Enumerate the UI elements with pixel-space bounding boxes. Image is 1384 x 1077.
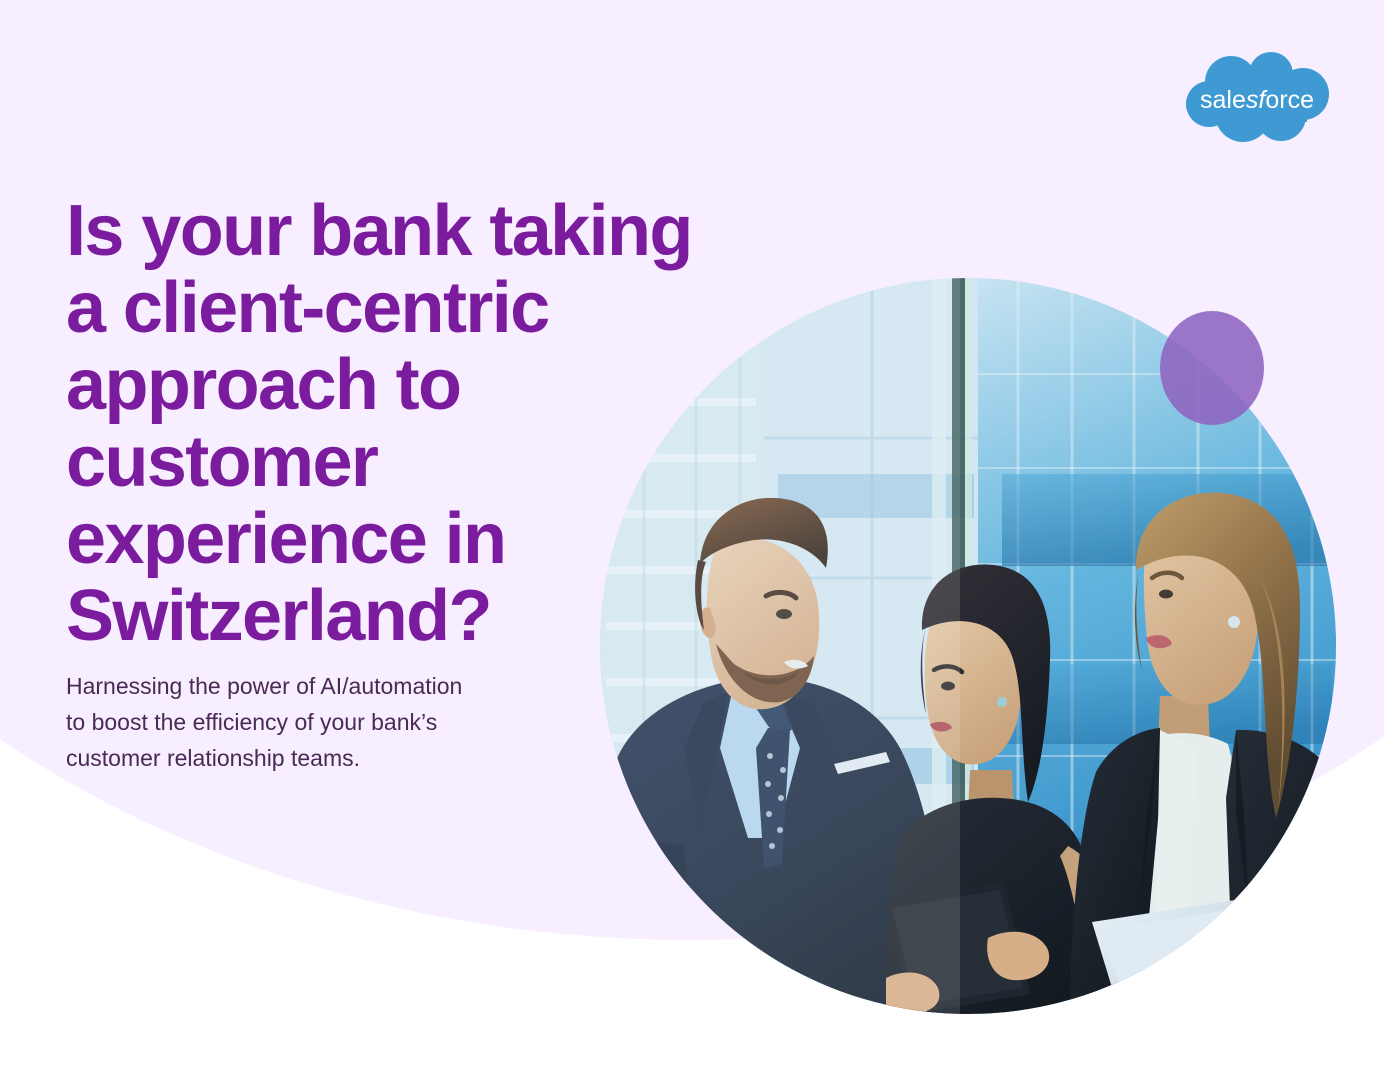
purple-accent-circle [1160, 311, 1264, 425]
salesforce-wordmark: salesforce [1200, 86, 1314, 114]
page-subtitle: Harnessing the power of AI/automation to… [66, 668, 586, 776]
salesforce-logo[interactable]: salesforce [1183, 52, 1331, 147]
page-title: Is your bank taking a client-centric app… [66, 193, 826, 655]
ebook-cover-page: salesforce Is your bank taking a client-… [0, 0, 1384, 1077]
